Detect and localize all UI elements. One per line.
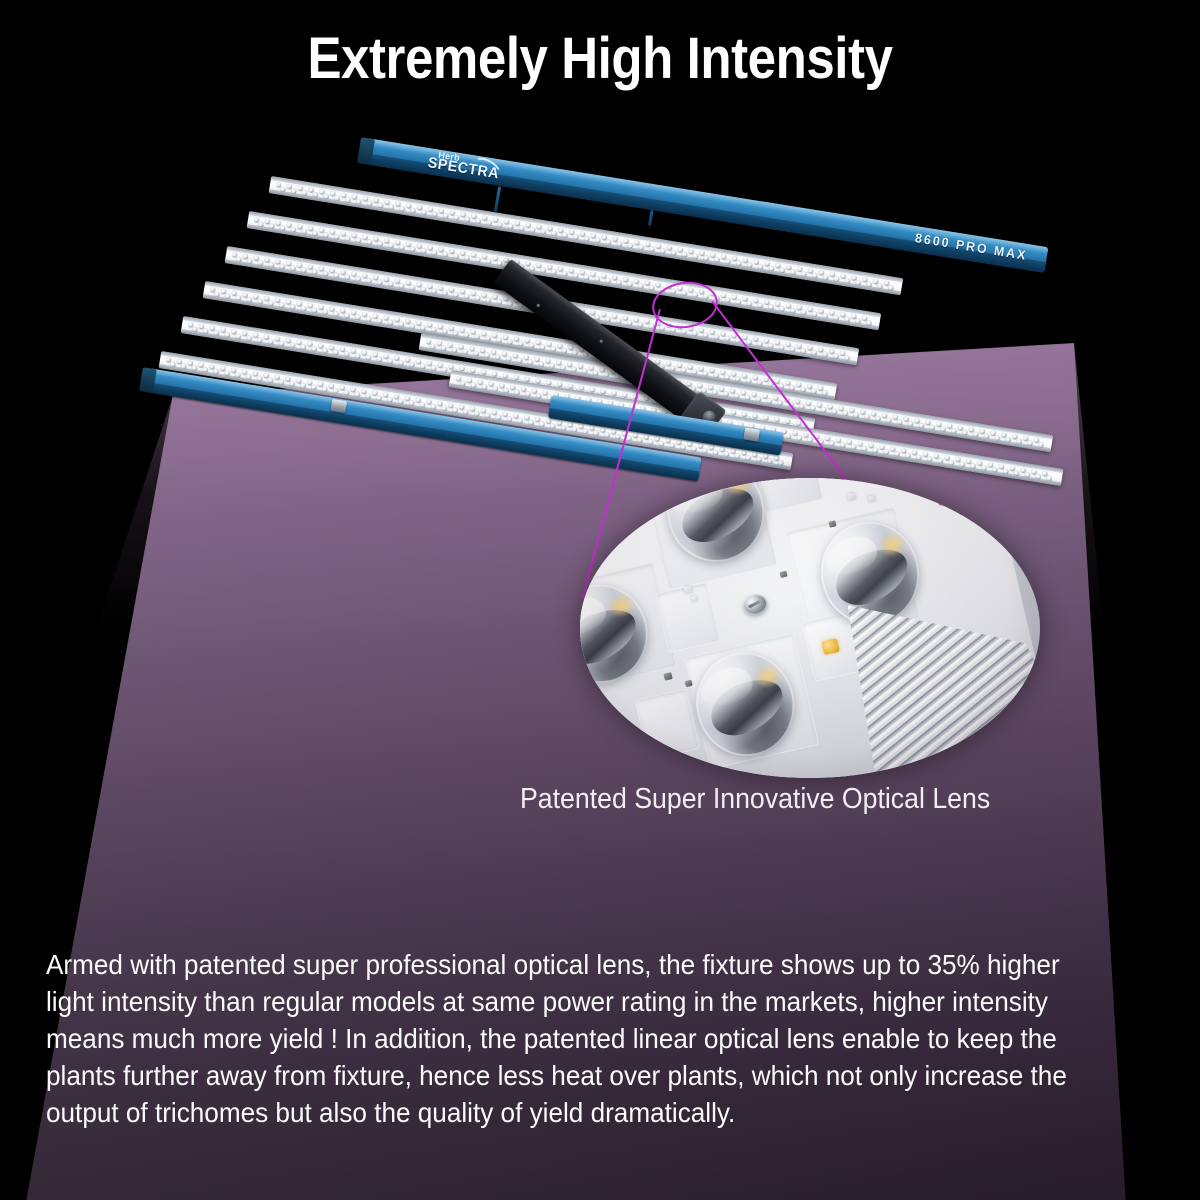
led-dot (616, 279, 622, 285)
led-dot (572, 349, 578, 355)
led-dot (757, 341, 763, 347)
led-dot (474, 411, 480, 417)
led-dot (758, 264, 764, 270)
led-dot (377, 241, 383, 247)
led-dot (725, 259, 731, 265)
led-dot (236, 295, 242, 301)
led-dot (779, 306, 785, 312)
led-dot (786, 433, 792, 439)
led-dot (692, 369, 698, 375)
led-dot (377, 279, 383, 285)
lens-macro-photo (580, 478, 1040, 778)
led-dot (442, 328, 448, 334)
led-dot (648, 439, 654, 445)
led-dot (495, 354, 501, 360)
led-dot (311, 384, 317, 390)
led-dot (981, 465, 987, 471)
led-dot (333, 311, 339, 317)
led-dot (637, 437, 643, 443)
led-dot (322, 348, 328, 354)
led-dot (779, 344, 785, 350)
led-dot (464, 255, 470, 261)
led-dot (595, 276, 601, 282)
led-dot (367, 201, 373, 207)
led-dot (888, 285, 894, 291)
page-title: Extremely High Intensity (72, 28, 1128, 90)
led-dot (377, 356, 383, 362)
led-dot (399, 206, 405, 212)
led-dot (344, 351, 350, 357)
led-dot (984, 433, 990, 439)
led-dot (823, 313, 829, 319)
led-dot (356, 199, 362, 205)
led-dot (549, 363, 555, 369)
led-dot (616, 318, 622, 324)
led-dot (573, 234, 579, 240)
led-dot (682, 252, 688, 258)
led-dot (1016, 438, 1022, 444)
led-dot (606, 278, 612, 284)
led-dot (797, 435, 803, 441)
led-dot (497, 222, 503, 228)
led-dot (810, 405, 816, 411)
led-dot (291, 188, 297, 194)
led-dot (409, 400, 415, 406)
led-dot (735, 453, 741, 459)
led-dot (355, 353, 361, 359)
led-dot (452, 407, 458, 413)
led-dot (323, 271, 329, 277)
led-dot (530, 227, 536, 233)
led-dot (746, 455, 752, 461)
led-dot (389, 204, 395, 210)
led-dot (1006, 437, 1012, 443)
led-dot (605, 316, 611, 322)
led-dot (649, 246, 655, 252)
led-dot (496, 337, 502, 343)
led-dot (615, 434, 621, 440)
led-dot (551, 346, 557, 352)
led-dot (257, 298, 263, 304)
led-dot (691, 446, 697, 452)
led-dot (475, 334, 481, 340)
description-text: Armed with patented super professional o… (46, 946, 1099, 1131)
led-dot (398, 398, 404, 404)
led-dot (767, 458, 773, 464)
grow-light-fixture: Herb SPECTRA 8600 PRO MAX (120, 120, 1100, 480)
led-dot (432, 211, 438, 217)
led-dot (268, 377, 274, 383)
led-dot (519, 225, 525, 231)
led-dot (627, 320, 633, 326)
led-dot (758, 302, 764, 308)
led-dot (279, 263, 285, 269)
led-dot (355, 314, 361, 320)
led-dot (573, 272, 579, 278)
led-dot (409, 323, 415, 329)
led-dot (660, 325, 666, 331)
led-dot (930, 424, 936, 430)
led-dot (268, 339, 274, 345)
led-dot (551, 269, 557, 275)
led-dot (323, 309, 329, 315)
led-dot (681, 329, 687, 335)
led-dot (279, 341, 285, 347)
led-dot (560, 365, 566, 371)
led-dot (235, 372, 241, 378)
led-dot (471, 382, 477, 388)
led-dot (767, 398, 773, 404)
led-dot (247, 258, 253, 264)
led-dot (604, 372, 610, 378)
led-dot (475, 218, 481, 224)
led-dot (703, 371, 709, 377)
led-dot (311, 346, 317, 352)
led-dot (832, 409, 838, 415)
led-dot (506, 356, 512, 362)
led-dot (812, 311, 818, 317)
led-dot (659, 441, 665, 447)
led-dot (938, 458, 944, 464)
led-dot (214, 291, 220, 297)
led-dot (595, 237, 601, 243)
led-dot (670, 442, 676, 448)
led-dot (463, 349, 469, 355)
led-dot (801, 309, 807, 315)
led-dot (833, 353, 839, 359)
led-dot (497, 260, 503, 266)
led-dot (821, 407, 827, 413)
led-dot (312, 230, 318, 236)
led-dot (584, 274, 590, 280)
led-dot (693, 253, 699, 259)
led-dot (323, 193, 329, 199)
led-dot (344, 313, 350, 319)
led-dot (897, 419, 903, 425)
led-dot (704, 255, 710, 261)
led-dot (541, 229, 547, 235)
led-dot (302, 190, 308, 196)
led-dot (420, 325, 426, 331)
led-dot (670, 365, 676, 371)
led-dot (453, 292, 459, 298)
led-dot (582, 368, 588, 374)
led-dot (736, 260, 742, 266)
led-dot (170, 361, 176, 367)
led-dot (398, 360, 404, 366)
led-dot (562, 271, 568, 277)
led-dot (507, 339, 513, 345)
led-dot (962, 430, 968, 436)
led-dot (756, 396, 762, 402)
led-dot (258, 221, 264, 227)
led-dot (866, 281, 872, 287)
led-dot (334, 272, 340, 278)
led-dot (453, 253, 459, 259)
led-pcb-surface (580, 478, 1040, 778)
led-dot (724, 374, 730, 380)
led-dot (680, 444, 686, 450)
led-dot (312, 307, 318, 313)
led-dot (790, 385, 796, 391)
led-dot (301, 228, 307, 234)
led-dot (366, 316, 372, 322)
led-dot (845, 278, 851, 284)
led-dot (235, 333, 241, 339)
led-dot (280, 186, 286, 192)
led-dot (712, 389, 718, 395)
led-dot (378, 202, 384, 208)
led-dot (960, 461, 966, 467)
led-dot (594, 430, 600, 436)
led-dot (800, 386, 806, 392)
led-dot (508, 223, 514, 229)
led-dot (355, 276, 361, 282)
led-dot (746, 378, 752, 384)
led-dot (638, 322, 644, 328)
led-dot (834, 315, 840, 321)
led-dot (430, 343, 436, 349)
led-dot (1003, 468, 1009, 474)
led-dot (790, 269, 796, 275)
led-dot (312, 269, 318, 275)
led-dot (561, 425, 567, 431)
led-dot (851, 444, 857, 450)
led-dot (420, 402, 426, 408)
led-dot (834, 276, 840, 282)
led-dot (503, 387, 509, 393)
led-dot (973, 431, 979, 437)
led-dot (540, 267, 546, 273)
led-dot (301, 344, 307, 350)
led-dot (919, 423, 925, 429)
led-dot (246, 335, 252, 341)
led-dot (475, 257, 481, 263)
led-dot (431, 288, 437, 294)
led-dot (628, 243, 634, 249)
led-dot (387, 358, 393, 364)
led-dot (970, 463, 976, 469)
led-dot (822, 390, 828, 396)
led-dot (551, 230, 557, 236)
led-dot (236, 256, 242, 262)
led-dot (225, 293, 231, 299)
led-dot (388, 320, 394, 326)
led-dot (203, 328, 209, 334)
led-dot (486, 297, 492, 303)
led-dot (224, 370, 230, 376)
led-dot (409, 362, 415, 368)
led-dot (714, 334, 720, 340)
led-dot (399, 283, 405, 289)
led-dot (562, 348, 568, 354)
led-dot (875, 416, 881, 422)
led-dot (377, 318, 383, 324)
led-dot (940, 426, 946, 432)
led-dot (529, 265, 535, 271)
led-dot (736, 299, 742, 305)
led-dot (703, 332, 709, 338)
led-dot (497, 299, 503, 305)
led-dot (344, 390, 350, 396)
led-dot (399, 321, 405, 327)
led-dot (745, 394, 751, 400)
led-dot (529, 342, 535, 348)
led-dot (214, 330, 220, 336)
led-dot (1027, 440, 1033, 446)
led-dot (562, 232, 568, 238)
led-dot (649, 285, 655, 291)
led-dot (525, 391, 531, 397)
led-dot (951, 428, 957, 434)
led-dot (723, 391, 729, 397)
led-dot (475, 295, 481, 301)
led-dot (387, 397, 393, 403)
led-dot (464, 293, 470, 299)
led-dot (756, 456, 762, 462)
led-dot (927, 456, 933, 462)
led-dot (790, 346, 796, 352)
led-dot (862, 446, 868, 452)
led-dot (291, 227, 297, 233)
led-dot (442, 367, 448, 373)
led-dot (410, 208, 416, 214)
led-dot (905, 453, 911, 459)
led-dot (333, 349, 339, 355)
led-dot (301, 267, 307, 273)
led-dot (484, 352, 490, 358)
led-dot (823, 274, 829, 280)
led-dot (345, 274, 351, 280)
poster-canvas: Extremely High Intensity (0, 0, 1200, 1200)
led-dot (725, 297, 731, 303)
led-dot (528, 359, 534, 365)
led-dot (192, 326, 198, 332)
led-dot (441, 405, 447, 411)
led-dot (441, 345, 447, 351)
led-dot (257, 376, 263, 382)
description-paragraph: Armed with patented super professional o… (46, 946, 1099, 1131)
led-dot (246, 374, 252, 380)
led-dot (290, 265, 296, 271)
led-dot (584, 236, 590, 242)
led-dot (714, 257, 720, 263)
led-dot (778, 460, 784, 466)
led-dot (747, 301, 753, 307)
led-dot (334, 195, 340, 201)
led-dot (746, 339, 752, 345)
led-dot (453, 330, 459, 336)
led-dot (388, 243, 394, 249)
led-dot (884, 449, 890, 455)
led-dot (345, 236, 351, 242)
led-dot (873, 447, 879, 453)
led-dot (539, 421, 545, 427)
led-dot (540, 344, 546, 350)
led-dot (420, 363, 426, 369)
led-dot (840, 442, 846, 448)
led-dot (443, 213, 449, 219)
led-dot (367, 239, 373, 245)
led-dot (572, 427, 578, 433)
led-dot (593, 370, 599, 376)
led-dot (528, 419, 534, 425)
led-dot (779, 383, 785, 389)
led-dot (247, 297, 253, 303)
led-dot (856, 280, 862, 286)
led-dot (780, 267, 786, 273)
hanger-bracket (494, 186, 501, 212)
led-dot (714, 372, 720, 378)
led-dot (536, 393, 542, 399)
led-dot (801, 348, 807, 354)
led-dot (421, 248, 427, 254)
led-dot (747, 262, 753, 268)
led-dot (366, 355, 372, 361)
led-dot (671, 250, 677, 256)
led-dot (768, 343, 774, 349)
led-dot (376, 395, 382, 401)
led-dot (894, 451, 900, 457)
led-dot (431, 365, 437, 371)
led-dot (225, 332, 231, 338)
lens-caption: Patented Super Innovative Optical Lens (520, 782, 1090, 816)
led-dot (908, 421, 914, 427)
led-dot (692, 330, 698, 336)
led-dot (855, 318, 861, 324)
led-dot (916, 454, 922, 460)
led-dot (213, 368, 219, 374)
led-dot (290, 342, 296, 348)
led-dot (1046, 475, 1052, 481)
led-dot (486, 258, 492, 264)
led-dot (724, 451, 730, 457)
led-dot (388, 281, 394, 287)
led-dot (431, 404, 437, 410)
led-dot (1025, 472, 1031, 478)
led-dot (768, 304, 774, 310)
led-dot (877, 283, 883, 289)
led-dot (801, 271, 807, 277)
led-dot (269, 223, 275, 229)
led-dot (485, 412, 491, 418)
led-dot (769, 266, 775, 272)
led-dot (829, 440, 835, 446)
led-dot (606, 239, 612, 245)
led-dot (443, 251, 449, 257)
led-dot (518, 418, 524, 424)
led-dot (735, 376, 741, 382)
led-dot (866, 320, 872, 326)
led-dot (713, 449, 719, 455)
led-dot (192, 365, 198, 371)
led-dot (460, 380, 466, 386)
led-dot (1036, 474, 1042, 480)
led-dot (617, 241, 623, 247)
led-dot (812, 350, 818, 356)
led-dot (203, 367, 209, 373)
led-dot (778, 400, 784, 406)
led-dot (638, 244, 644, 250)
led-dot (1014, 470, 1020, 476)
led-dot (410, 285, 416, 291)
led-dot (269, 262, 275, 268)
led-dot (333, 388, 339, 394)
led-dot (181, 363, 187, 369)
led-dot (486, 220, 492, 226)
led-dot (539, 361, 545, 367)
led-dot (365, 393, 371, 399)
